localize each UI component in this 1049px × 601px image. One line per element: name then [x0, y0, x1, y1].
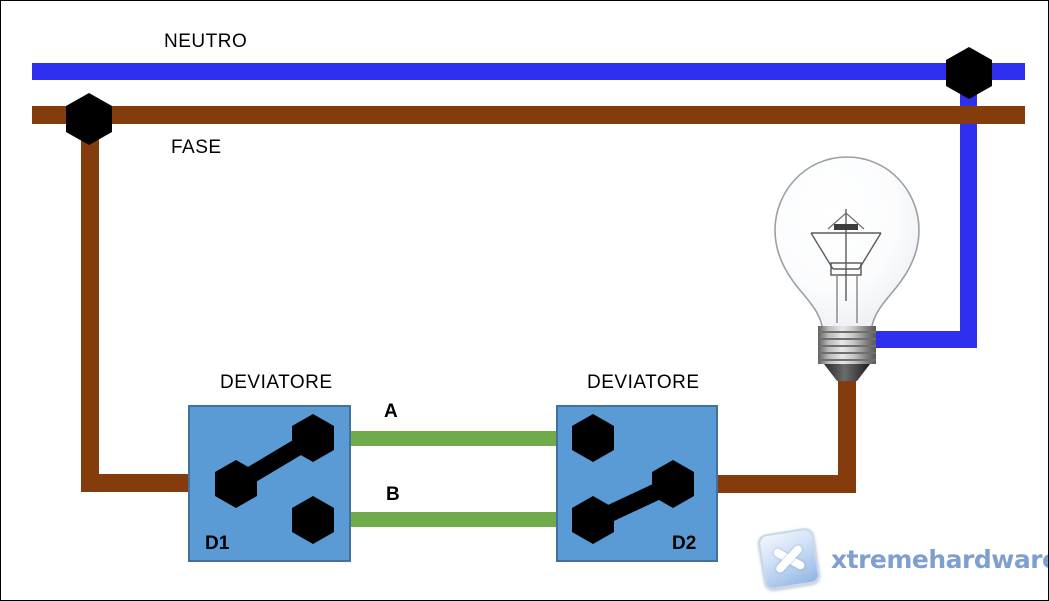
- label-traveller-a: A: [384, 401, 398, 423]
- traveller-a-wire: [321, 431, 591, 446]
- phase-drop-left: [81, 106, 99, 491]
- label-neutro: NEUTRO: [164, 31, 247, 53]
- neutral-lamp-leg: [869, 331, 977, 348]
- bulb-cap-tip: [824, 364, 870, 381]
- diagram-svg: [1, 1, 1049, 601]
- traveller-b-wire: [321, 512, 591, 527]
- phase-rail: [32, 106, 1025, 124]
- label-traveller-b: B: [386, 484, 400, 506]
- label-deviatore-left: DEVIATORE: [220, 372, 333, 394]
- label-deviatore-right: DEVIATORE: [587, 372, 700, 394]
- watermark-logo: xtremehardware.com: [761, 529, 1036, 589]
- label-switch-id-d2: D2: [672, 533, 696, 555]
- xtremehardware-badge-icon: [757, 527, 821, 591]
- label-switch-id-d1: D1: [205, 533, 229, 555]
- neutral-rail: [32, 63, 1025, 80]
- neutral-drop-right: [960, 63, 977, 339]
- wiring-diagram-canvas: NEUTRO FASE A B DEVIATORE DEVIATORE D1 D…: [0, 0, 1049, 601]
- bulb-glass: [775, 157, 919, 331]
- label-fase: FASE: [171, 137, 222, 159]
- watermark-brand-text: xtremehardware.com: [831, 545, 1049, 574]
- terminal-neutral-rail-tap[interactable]: [946, 47, 992, 99]
- bulb-stem-band: [834, 224, 858, 230]
- terminal-phase-rail-tap[interactable]: [66, 93, 112, 145]
